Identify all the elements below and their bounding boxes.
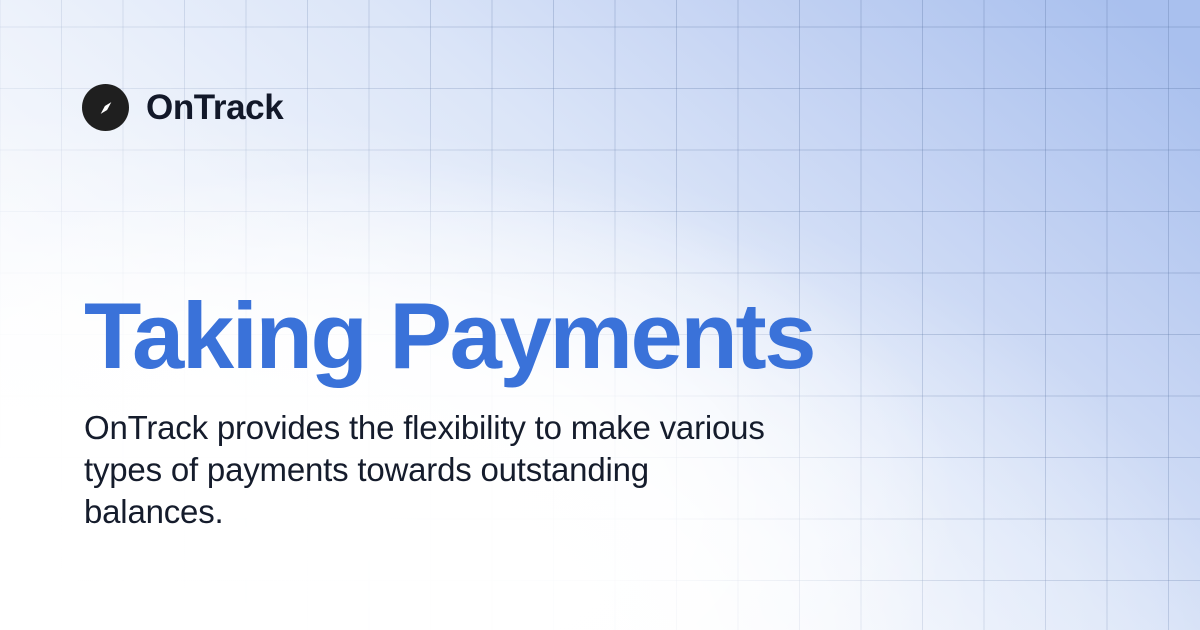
page-title: Taking Payments: [84, 292, 944, 380]
brand-name: OnTrack: [146, 90, 283, 125]
page-description: OnTrack provides the flexibility to make…: [84, 407, 774, 533]
compass-needle-icon: [82, 84, 129, 131]
hero-content: Taking Payments OnTrack provides the fle…: [84, 292, 944, 533]
brand-lockup[interactable]: OnTrack: [82, 84, 283, 131]
social-card: OnTrack Taking Payments OnTrack provides…: [0, 0, 1200, 630]
